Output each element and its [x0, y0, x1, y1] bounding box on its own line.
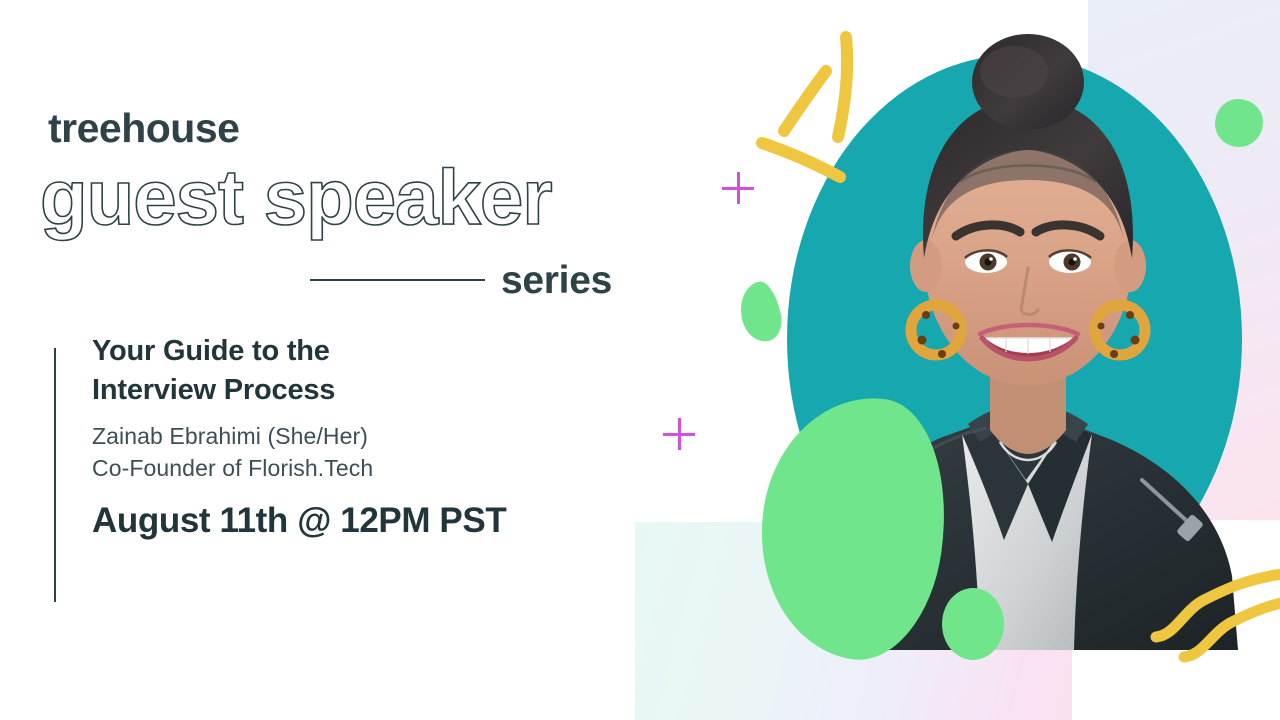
event-details-block: Your Guide to the Interview Process Zain… — [54, 348, 654, 602]
speaker-name: Zainab Ebrahimi (She/Her) — [92, 421, 652, 453]
plus-mark-icon-lower — [663, 418, 695, 450]
green-blob-icon-small — [735, 279, 786, 346]
brand-wordmark: treehouse — [48, 108, 239, 149]
series-divider-rule — [310, 279, 485, 281]
wavy-lines-icon — [1150, 565, 1280, 675]
event-details-text: Your Guide to the Interview Process Zain… — [92, 332, 652, 538]
promo-slide: treehouse guest speaker series Your Guid… — [0, 0, 1280, 720]
series-row: series — [310, 255, 630, 305]
details-vertical-rule — [54, 348, 56, 602]
event-datetime: August 11th @ 12PM PST — [92, 503, 652, 538]
speaker-role: Co-Founder of Florish.Tech — [92, 453, 652, 485]
headline-guest-speaker: guest speaker — [40, 155, 552, 241]
plus-vertical-bar — [678, 418, 681, 450]
sparkle-rays-icon — [740, 25, 900, 205]
talk-title: Your Guide to the Interview Process — [92, 332, 652, 409]
green-circle-icon-bottom — [942, 588, 1004, 660]
series-label: series — [501, 261, 612, 300]
